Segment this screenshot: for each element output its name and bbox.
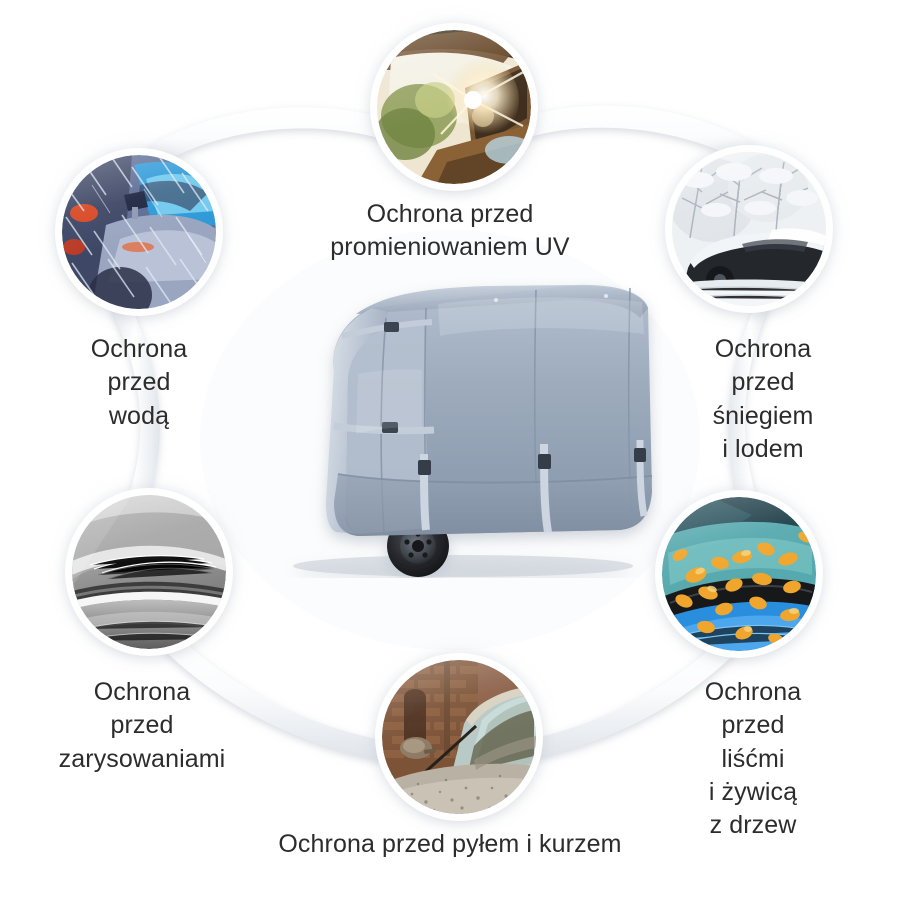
- feature-label-leaves: Ochrona przed liśćmi i żywicą z drzew: [648, 676, 858, 842]
- rain-on-car-photo: [62, 155, 216, 309]
- feature-circle-scratches[interactable]: [72, 495, 226, 649]
- feature-label-water: Ochrona przed wodą: [24, 333, 254, 433]
- feature-circle-dust[interactable]: [382, 660, 536, 814]
- sun-through-windscreen-photo: [377, 30, 531, 184]
- autumn-leaves-on-car-photo: [662, 497, 816, 651]
- feature-label-uv: Ochrona przed promieniowaniem UV: [300, 198, 600, 265]
- dusty-car-photo: [382, 660, 536, 814]
- feature-circle-leaves[interactable]: [662, 497, 816, 651]
- feature-circle-snow[interactable]: [672, 152, 826, 306]
- infographic-canvas: Ochrona przed promieniowaniem UV: [0, 0, 900, 900]
- snow-covered-car-photo: [672, 152, 826, 306]
- feature-label-snow: Ochrona przed śniegiem i lodem: [648, 333, 878, 466]
- feature-label-scratches: Ochrona przed zarysowaniami: [22, 676, 262, 776]
- strap-buckle: [634, 448, 646, 462]
- scratched-metal-photo: [72, 495, 226, 649]
- strap-buckle: [384, 322, 399, 332]
- feature-circle-water[interactable]: [62, 155, 216, 309]
- strap-buckle: [538, 454, 551, 469]
- product-illustration: [238, 278, 662, 578]
- strap-buckle: [418, 460, 431, 475]
- feature-label-dust: Ochrona przed pyłem i kurzem: [250, 828, 650, 861]
- feature-circle-uv[interactable]: [377, 30, 531, 184]
